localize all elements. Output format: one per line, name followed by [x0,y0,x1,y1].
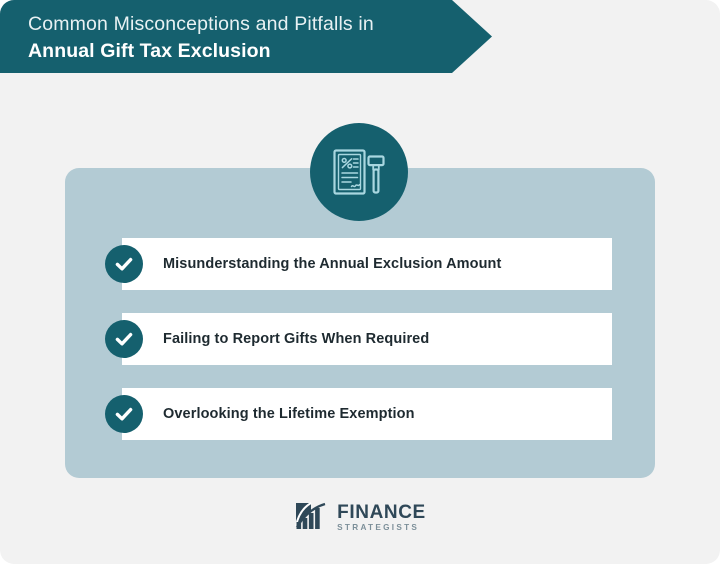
header-text-block: Common Misconceptions and Pitfalls in An… [28,11,446,64]
list-item-label: Failing to Report Gifts When Required [163,331,429,347]
header-subtitle: Common Misconceptions and Pitfalls in [28,11,446,37]
list-item-label: Overlooking the Lifetime Exemption [163,406,415,422]
brand-subtitle: STRATEGISTS [337,524,426,532]
list-item[interactable]: Overlooking the Lifetime Exemption [122,388,612,440]
footer-logo: FINANCE STRATEGISTS [0,500,720,536]
infographic-root: Common Misconceptions and Pitfalls in An… [0,0,720,564]
tax-document-gavel-icon [310,123,408,221]
check-circle-icon [105,245,143,283]
list-item-label: Misunderstanding the Annual Exclusion Am… [163,256,501,272]
header-banner: Common Misconceptions and Pitfalls in An… [0,0,492,73]
finance-strategists-chart-logo-icon [294,500,330,536]
footer-logo-text: FINANCE STRATEGISTS [337,503,426,532]
check-circle-icon [105,395,143,433]
list-item[interactable]: Failing to Report Gifts When Required [122,313,612,365]
list-item[interactable]: Misunderstanding the Annual Exclusion Am… [122,238,612,290]
check-circle-icon [105,320,143,358]
brand-name: FINANCE [337,503,426,522]
header-title: Annual Gift Tax Exclusion [28,38,446,64]
pitfalls-list: Misunderstanding the Annual Exclusion Am… [122,238,612,440]
